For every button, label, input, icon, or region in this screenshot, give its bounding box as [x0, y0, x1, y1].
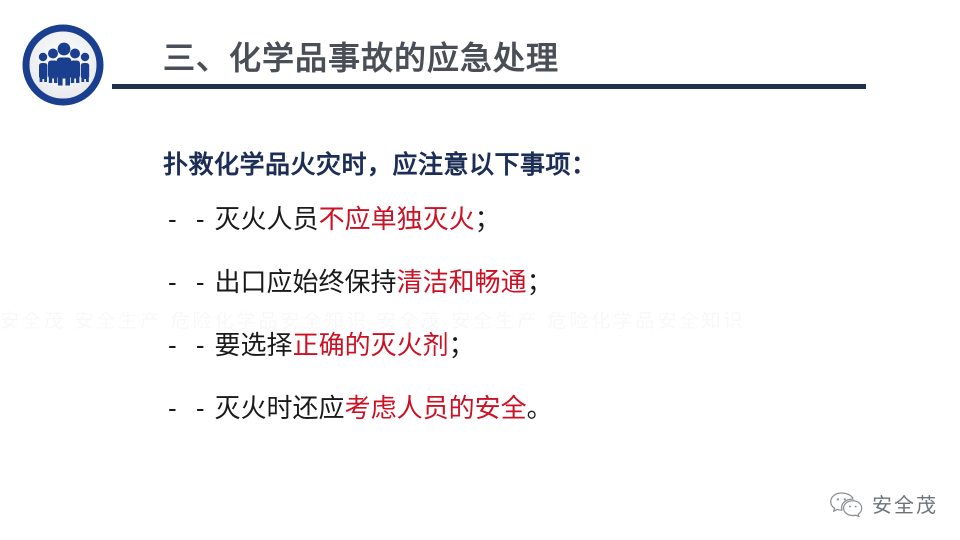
slide-canvas: 三、化学品事故的应急处理 安全茂 安全生产 危险化学品安全知识 安全茂 安全生产…	[0, 0, 960, 540]
bullet-punctuation: ；	[527, 267, 553, 297]
bullet-text: 要选择	[215, 330, 293, 360]
header-divider	[112, 84, 866, 89]
brand-name: 安全茂	[872, 489, 938, 518]
wechat-icon	[829, 490, 863, 518]
people-group-circle-icon	[20, 22, 106, 108]
list-item: - -出口应始终保持清洁和畅通；	[168, 269, 868, 332]
bullet-punctuation: 。	[527, 393, 553, 423]
bullet-marker: - -	[168, 393, 211, 423]
bullet-punctuation: ；	[449, 330, 475, 360]
bullet-highlight: 不应单独灭火	[319, 204, 475, 234]
section-lead-heading: 扑救化学品火灾时，应注意以下事项：	[163, 145, 597, 181]
bullet-highlight: 考虑人员的安全	[345, 393, 527, 423]
bullet-highlight: 正确的灭火剂	[293, 330, 449, 360]
list-item: - -要选择正确的灭火剂；	[168, 332, 868, 395]
page-title: 三、化学品事故的应急处理	[163, 33, 559, 79]
list-item: - -灭火人员不应单独灭火；	[168, 206, 868, 269]
bullet-punctuation: ；	[475, 204, 501, 234]
bullet-text: 出口应始终保持	[215, 267, 397, 297]
bullet-marker: - -	[168, 330, 211, 360]
bullet-text: 灭火人员	[215, 204, 319, 234]
bullet-highlight: 清洁和畅通	[397, 267, 527, 297]
list-item: - -灭火时还应考虑人员的安全。	[168, 395, 868, 458]
bullet-marker: - -	[168, 267, 211, 297]
bullet-text: 灭火时还应	[215, 393, 345, 423]
footer-brand: 安全茂	[829, 489, 938, 518]
bullet-marker: - -	[168, 204, 211, 234]
bullet-list: - -灭火人员不应单独灭火； - -出口应始终保持清洁和畅通； - -要选择正确…	[168, 206, 868, 458]
